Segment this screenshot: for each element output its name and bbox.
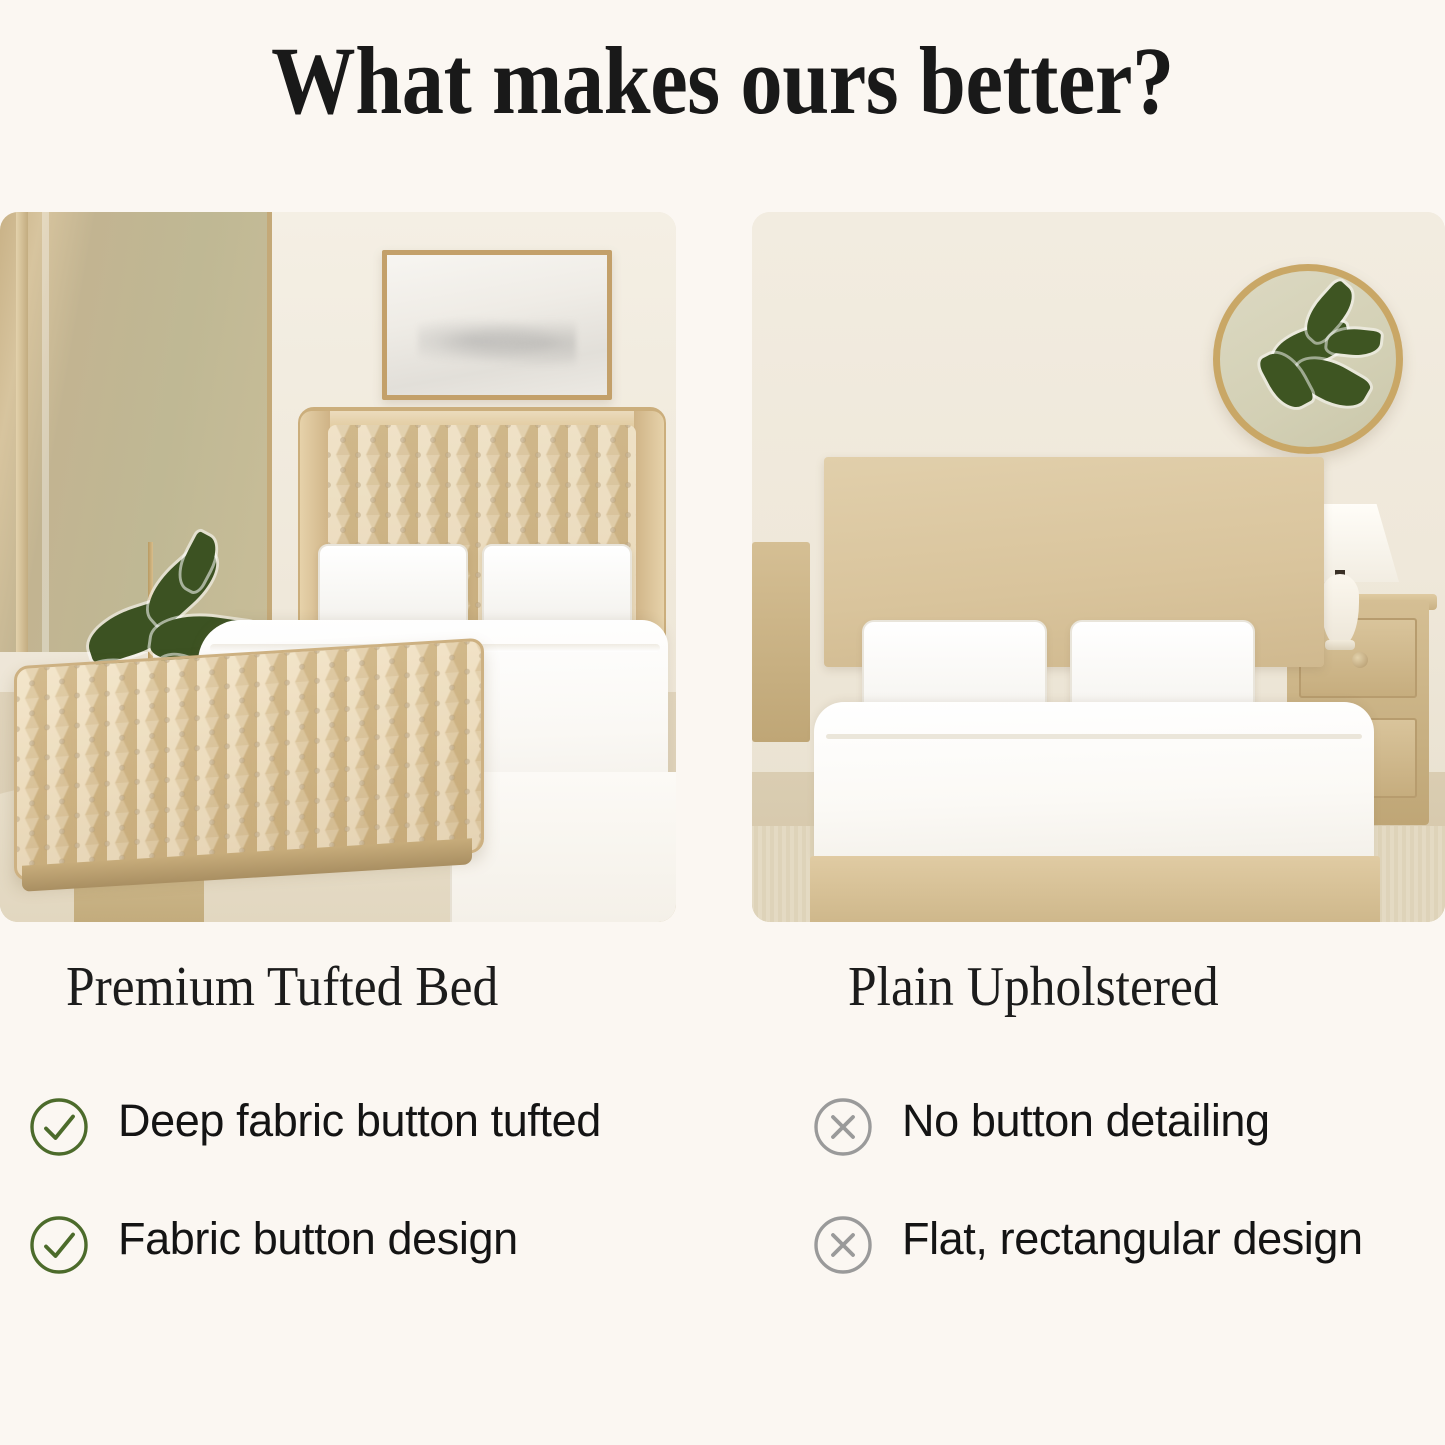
drawer-knob: [1352, 652, 1368, 668]
round-mirror: [1213, 264, 1403, 454]
mirror-strip: [16, 212, 28, 652]
mirror-highlight: [42, 212, 49, 652]
product-image-plain-upholstered: [752, 212, 1445, 922]
check-circle-icon: [28, 1096, 90, 1158]
panel-captions: Premium Tufted Bed Plain Upholstered: [0, 955, 1445, 1045]
bed-base-rail: [810, 856, 1380, 922]
caption-plain-upholstered: Plain Upholstered: [848, 955, 1219, 1019]
feature-label: No button detailing: [902, 1092, 1270, 1149]
feature-list-premium-tufted: Deep fabric button tufted Fabric button …: [28, 1092, 668, 1328]
feature-item: Flat, rectangular design: [812, 1210, 1445, 1276]
nightstand-left: [752, 542, 810, 742]
scene-premium-tufted: [0, 212, 676, 922]
feature-list-plain-upholstered: No button detailing Flat, rectangular de…: [812, 1092, 1445, 1328]
pillow: [482, 544, 632, 632]
check-circle-icon: [28, 1214, 90, 1276]
feature-item: Deep fabric button tufted: [28, 1092, 668, 1158]
scene-plain-upholstered: [752, 212, 1445, 922]
feature-label: Fabric button design: [118, 1210, 518, 1267]
cross-circle-icon: [812, 1096, 874, 1158]
cross-circle-icon: [812, 1214, 874, 1276]
mattress-bedding: [814, 702, 1374, 862]
comparison-panels: [0, 212, 1445, 922]
mirror-panel: [0, 212, 272, 652]
feature-item: Fabric button design: [28, 1210, 668, 1276]
lamp-base: [1325, 640, 1355, 650]
sheet-fold-line: [826, 734, 1362, 739]
headboard-wing-right: [634, 411, 664, 653]
product-image-premium-tufted-bed: [0, 212, 676, 922]
framed-art: [382, 250, 612, 400]
feature-item: No button detailing: [812, 1092, 1445, 1158]
page-title: What makes ours better?: [87, 28, 1359, 134]
feature-label: Flat, rectangular design: [902, 1210, 1363, 1267]
feature-label: Deep fabric button tufted: [118, 1092, 601, 1149]
art-abstract-wash: [418, 314, 576, 367]
caption-premium-tufted-bed: Premium Tufted Bed: [66, 955, 498, 1019]
pillow: [318, 544, 468, 632]
